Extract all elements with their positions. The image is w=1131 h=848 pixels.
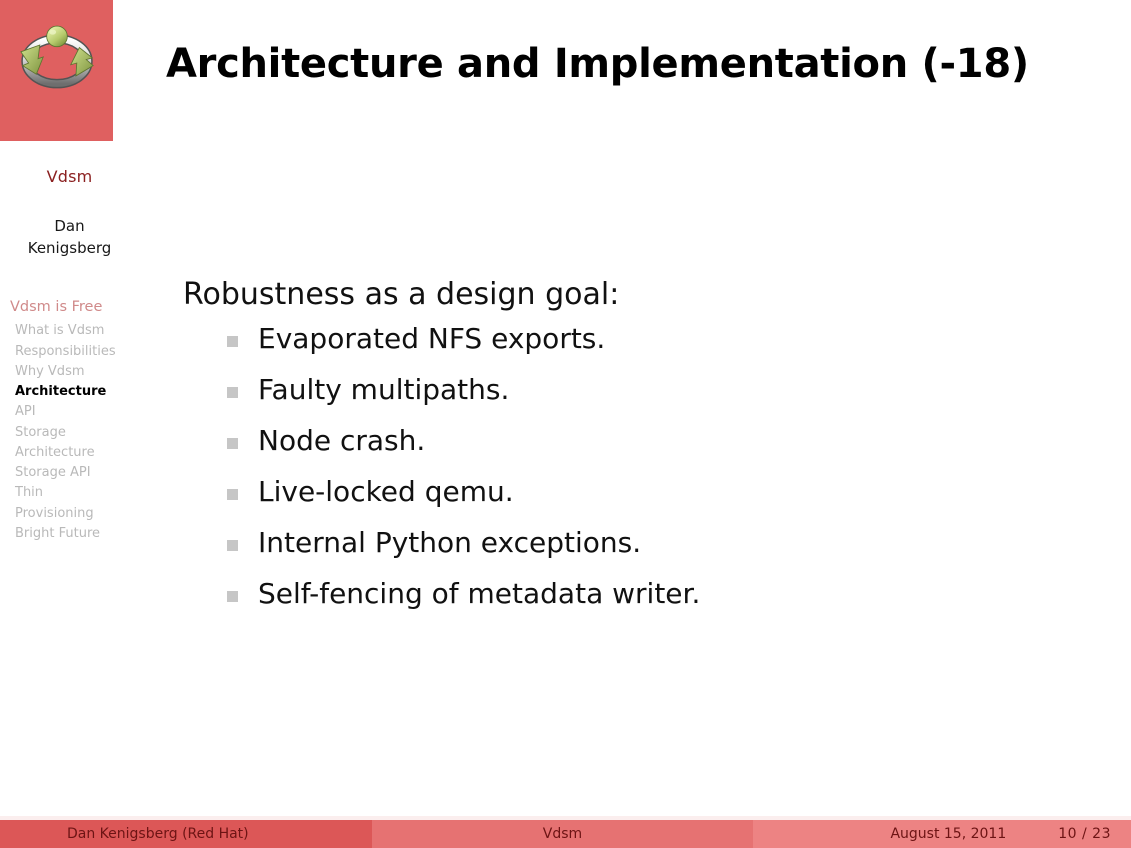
bullet-list: Evaporated NFS exports. Faulty multipath… bbox=[183, 325, 1091, 608]
vdsm-ring-logo-icon bbox=[14, 14, 100, 100]
footer-presentation-title: Vdsm bbox=[372, 820, 753, 848]
list-item: Self-fencing of metadata writer. bbox=[227, 580, 1091, 608]
list-item: Node crash. bbox=[227, 427, 1091, 455]
list-item-label: Self-fencing of metadata writer. bbox=[258, 577, 700, 610]
list-item-label: Evaporated NFS exports. bbox=[258, 322, 605, 355]
footer-page-number: 10 / 23 bbox=[1058, 826, 1111, 842]
bullet-square-icon bbox=[227, 438, 238, 449]
list-item-label: Faulty multipaths. bbox=[258, 373, 509, 406]
slide-title: Architecture and Implementation (-18) bbox=[166, 41, 1029, 87]
list-item-label: Live-locked qemu. bbox=[258, 475, 514, 508]
toc-item-why-vdsm[interactable]: Why Vdsm bbox=[10, 362, 134, 382]
footer-author: Dan Kenigsberg (Red Hat) bbox=[0, 820, 372, 848]
toc-item-thin-provisioning-line1[interactable]: Thin bbox=[10, 483, 134, 503]
toc-item-storage-architecture-line2[interactable]: Architecture bbox=[10, 443, 134, 463]
list-item-label: Node crash. bbox=[258, 424, 425, 457]
toc-item-what-is-vdsm[interactable]: What is Vdsm bbox=[10, 321, 134, 341]
list-item: Live-locked qemu. bbox=[227, 478, 1091, 506]
list-item-label: Internal Python exceptions. bbox=[258, 526, 641, 559]
footer-bar: Dan Kenigsberg (Red Hat) Vdsm August 15,… bbox=[0, 820, 1131, 848]
sidebar-presentation-title: Vdsm bbox=[0, 167, 139, 186]
logo-block bbox=[0, 0, 113, 141]
sidebar-author: Dan Kenigsberg bbox=[0, 216, 139, 260]
toc-item-storage-api[interactable]: Storage API bbox=[10, 463, 134, 483]
toc-item-responsibilities[interactable]: Responsibilities bbox=[10, 342, 134, 362]
sidebar: Vdsm Dan Kenigsberg Vdsm is Free What is… bbox=[0, 141, 139, 816]
lead-text: Robustness as a design goal: bbox=[183, 278, 1091, 311]
table-of-contents: Vdsm is Free What is Vdsm Responsibiliti… bbox=[0, 297, 139, 545]
list-item: Evaporated NFS exports. bbox=[227, 325, 1091, 353]
list-item: Internal Python exceptions. bbox=[227, 529, 1091, 557]
footer-date: August 15, 2011 bbox=[890, 826, 1006, 842]
list-item: Faulty multipaths. bbox=[227, 376, 1091, 404]
bullet-square-icon bbox=[227, 591, 238, 602]
footer-right: August 15, 2011 10 / 23 bbox=[753, 820, 1131, 848]
sidebar-author-line1: Dan bbox=[0, 216, 139, 238]
toc-item-thin-provisioning-line2[interactable]: Provisioning bbox=[10, 504, 134, 524]
toc-item-architecture[interactable]: Architecture bbox=[10, 382, 134, 402]
toc-item-api[interactable]: API bbox=[10, 402, 134, 422]
bullet-square-icon bbox=[227, 336, 238, 347]
bullet-square-icon bbox=[227, 489, 238, 500]
toc-item-bright-future[interactable]: Bright Future bbox=[10, 524, 134, 544]
slide-body: Robustness as a design goal: Evaporated … bbox=[183, 278, 1091, 631]
sidebar-author-line2: Kenigsberg bbox=[0, 238, 139, 260]
bullet-square-icon bbox=[227, 387, 238, 398]
toc-section-vdsm-is-free[interactable]: Vdsm is Free bbox=[10, 297, 134, 319]
toc-item-storage-architecture-line1[interactable]: Storage bbox=[10, 423, 134, 443]
bullet-square-icon bbox=[227, 540, 238, 551]
presentation-slide: Vdsm Dan Kenigsberg Vdsm is Free What is… bbox=[0, 0, 1131, 848]
